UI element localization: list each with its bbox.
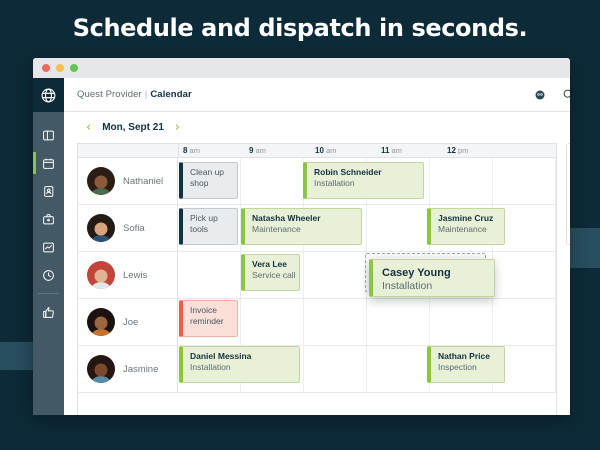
technician-name: Jasmine: [123, 364, 158, 375]
technician-name: Sofia: [123, 223, 145, 234]
app-topbar: Quest Provider|Calendar: [64, 78, 570, 112]
window-close-button[interactable]: [42, 64, 50, 72]
event-subtitle: Inspection: [438, 362, 499, 373]
calendar-event-card[interactable]: Clean up shop: [179, 162, 238, 199]
event-title: Nathan Price: [438, 351, 499, 362]
breadcrumb-separator: |: [145, 89, 148, 100]
time-slot[interactable]: [493, 252, 556, 298]
technician-cell: Joe: [78, 299, 178, 345]
event-title: Natasha Wheeler: [252, 213, 356, 224]
time-slot[interactable]: [367, 346, 430, 392]
hour-labels: 8 am9 am10 am11 am12 pm: [179, 144, 556, 157]
event-subtitle: Maintenance: [252, 224, 356, 235]
sidebar-item-calendar[interactable]: [33, 149, 64, 177]
technician-name: Nathaniel: [123, 176, 163, 187]
event-title: Vera Lee: [252, 259, 294, 270]
avatar: [87, 167, 115, 195]
sidebar-divider: [38, 293, 59, 294]
page-title: Calendar: [150, 89, 191, 100]
calendar-event-card[interactable]: Robin SchneiderInstallation: [303, 162, 424, 199]
sidebar-item-reviews[interactable]: [33, 298, 64, 326]
time-header: 8 am9 am10 am11 am12 pm: [78, 144, 556, 158]
hour-label: 12 pm: [443, 144, 509, 157]
accessibility-icon[interactable]: [534, 89, 546, 101]
event-subtitle: Installation: [190, 362, 294, 373]
technician-row: Joe: [78, 299, 556, 346]
time-slot[interactable]: [367, 299, 430, 345]
event-subtitle: Maintenance: [438, 224, 499, 235]
time-slot[interactable]: [493, 158, 556, 204]
date-navigation: ‹ Mon, Sept 21 ›: [64, 112, 570, 143]
brand-name: Quest Provider: [77, 89, 142, 100]
time-slot[interactable]: [241, 299, 304, 345]
event-title: Jasmine Cruz: [438, 213, 499, 224]
schedule-grid: 8 am9 am10 am11 am12 pm NathanielSofiaLe…: [77, 143, 557, 415]
calendar-event-card[interactable]: Natasha WheelerMaintenance: [241, 208, 362, 245]
time-slot[interactable]: [178, 252, 241, 298]
time-slot[interactable]: [367, 205, 430, 251]
main-panel: Quest Provider|Calendar: [64, 78, 570, 415]
hour-label: 10 am: [311, 144, 377, 157]
sidebar-nav: [33, 112, 64, 415]
window-maximize-button[interactable]: [70, 64, 78, 72]
time-slot[interactable]: [430, 299, 493, 345]
hour-label: 9 am: [245, 144, 311, 157]
calendar-event-card[interactable]: Pick up tools: [179, 208, 238, 245]
time-slot[interactable]: [241, 158, 304, 204]
calendar-event-card[interactable]: Nathan PriceInspection: [427, 346, 505, 383]
search-icon[interactable]: [562, 88, 570, 101]
unscheduled-panel: UNSCHEDULED Joe FloresMaintenanceCasey Y…: [566, 143, 570, 245]
dragged-event-subtitle: Installation: [382, 280, 486, 293]
event-title: Robin Schneider: [314, 167, 418, 178]
avatar: [87, 308, 115, 336]
technician-column-header: [78, 144, 179, 157]
prev-day-button[interactable]: ‹: [86, 121, 91, 134]
calendar-event-card[interactable]: Invoice reminder: [179, 300, 238, 337]
event-title: Daniel Messina: [190, 351, 294, 362]
time-slot[interactable]: [430, 158, 493, 204]
window-titlebar: [33, 58, 570, 78]
schedule-rows: NathanielSofiaLewisJoeJasmineClean up sh…: [78, 158, 556, 415]
sidebar-item-jobs[interactable]: [33, 205, 64, 233]
calendar-event-card[interactable]: Jasmine CruzMaintenance: [427, 208, 505, 245]
avatar: [87, 214, 115, 242]
hour-label: 11 am: [377, 144, 443, 157]
sidebar-item-timesheets[interactable]: [33, 261, 64, 289]
event-title: Clean up shop: [190, 167, 232, 189]
avatar: [87, 355, 115, 383]
time-slot[interactable]: [304, 346, 367, 392]
event-title: Invoice reminder: [190, 305, 232, 327]
technician-cell: Sofia: [78, 205, 178, 251]
app-logo[interactable]: [33, 78, 64, 112]
dragged-event-card[interactable]: Casey YoungInstallation: [369, 259, 495, 297]
topbar-actions: [534, 88, 570, 101]
calendar-event-card[interactable]: Vera LeeService call: [241, 254, 300, 291]
event-title: Pick up tools: [190, 213, 232, 235]
time-slot[interactable]: [304, 299, 367, 345]
current-date-label: Mon, Sept 21: [102, 122, 164, 133]
event-subtitle: Installation: [314, 178, 418, 189]
hour-label: 8 am: [179, 144, 245, 157]
sidebar: [33, 78, 64, 415]
technician-cell: Jasmine: [78, 346, 178, 392]
technician-name: Joe: [123, 317, 138, 328]
sidebar-item-contacts[interactable]: [33, 177, 64, 205]
browser-window: Quest Provider|Calendar: [33, 58, 570, 415]
page-headline: Schedule and dispatch in seconds.: [0, 14, 600, 42]
technician-name: Lewis: [123, 270, 147, 281]
next-day-button[interactable]: ›: [175, 121, 180, 134]
time-slot[interactable]: [493, 299, 556, 345]
dragged-event-title: Casey Young: [382, 266, 486, 280]
breadcrumb: Quest Provider|Calendar: [77, 89, 192, 100]
sidebar-item-dashboard[interactable]: [33, 121, 64, 149]
sidebar-item-reports[interactable]: [33, 233, 64, 261]
event-subtitle: Service call: [252, 270, 294, 281]
time-slot[interactable]: [304, 252, 367, 298]
decor-band-left: [0, 342, 34, 370]
calendar-area: 8 am9 am10 am11 am12 pm NathanielSofiaLe…: [64, 143, 570, 415]
technician-cell: Lewis: [78, 252, 178, 298]
calendar-event-card[interactable]: Daniel MessinaInstallation: [179, 346, 300, 383]
window-minimize-button[interactable]: [56, 64, 64, 72]
technician-cell: Nathaniel: [78, 158, 178, 204]
avatar: [87, 261, 115, 289]
